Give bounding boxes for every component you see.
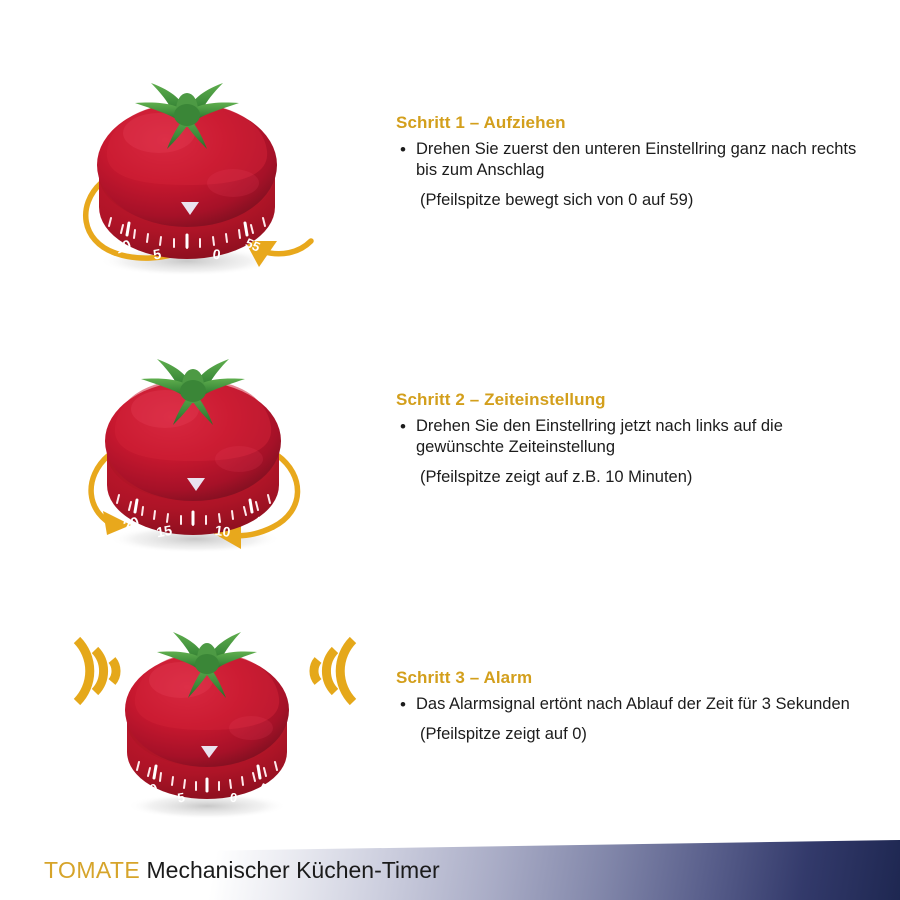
- sound-wave-icon-right: [314, 640, 353, 702]
- step-block-1: 10 5 0 55 Schritt 1 – Aufziehen • Drehen…: [0, 55, 900, 305]
- tomato-timer-illustration-3: 10 5 0 55: [55, 610, 375, 840]
- step-block-3: 10 5 0 55 Schritt 3 – Alarm • Das Alarms…: [0, 610, 900, 830]
- footer-brand-name: TOMATE: [44, 857, 140, 883]
- step-text-column-2: Schritt 2 – Zeiteinstellung • Drehen Sie…: [396, 390, 866, 488]
- footer: TOMATE Mechanischer Küchen-Timer: [0, 825, 900, 900]
- step-note: (Pfeilspitze bewegt sich von 0 auf 59): [420, 190, 866, 211]
- dial-number: 15: [155, 522, 173, 540]
- bullet-glyph: •: [396, 694, 416, 715]
- step-text-column-3: Schritt 3 – Alarm • Das Alarmsignal ertö…: [396, 668, 866, 745]
- dial-number: 10: [214, 522, 232, 540]
- sound-wave-icon-left: [77, 640, 116, 702]
- tomato-timer-illustration-1: 10 5 0 55: [55, 55, 375, 285]
- step-bullet-text: Drehen Sie den Einstellring jetzt nach l…: [416, 416, 866, 458]
- step-block-2: 20 15 10 5 Schritt 2 – Zeiteinstellung •…: [0, 335, 900, 585]
- footer-caption: TOMATE Mechanischer Küchen-Timer: [44, 859, 440, 882]
- bullet-glyph: •: [396, 416, 416, 437]
- page-root: 10 5 0 55 Schritt 1 – Aufziehen • Drehen…: [0, 0, 900, 900]
- step-note: (Pfeilspitze zeigt auf 0): [420, 724, 866, 745]
- step-text-column-1: Schritt 1 – Aufziehen • Drehen Sie zuers…: [396, 113, 866, 211]
- step-bullet: • Drehen Sie den Einstellring jetzt nach…: [396, 416, 866, 458]
- step-title: Schritt 3 – Alarm: [396, 668, 866, 688]
- step-bullet: • Drehen Sie zuerst den unteren Einstell…: [396, 139, 866, 181]
- step-bullet-text: Drehen Sie zuerst den unteren Einstellri…: [416, 139, 866, 181]
- step-title: Schritt 2 – Zeiteinstellung: [396, 390, 866, 410]
- footer-description: Mechanischer Küchen-Timer: [140, 857, 440, 883]
- step-bullet-text: Das Alarmsignal ertönt nach Ablauf der Z…: [416, 694, 866, 715]
- step-bullet: • Das Alarmsignal ertönt nach Ablauf der…: [396, 694, 866, 715]
- bullet-glyph: •: [396, 139, 416, 160]
- step-title: Schritt 1 – Aufziehen: [396, 113, 866, 133]
- step-note: (Pfeilspitze zeigt auf z.B. 10 Minuten): [420, 467, 866, 488]
- tomato-timer-illustration-2: 20 15 10 5: [55, 335, 375, 565]
